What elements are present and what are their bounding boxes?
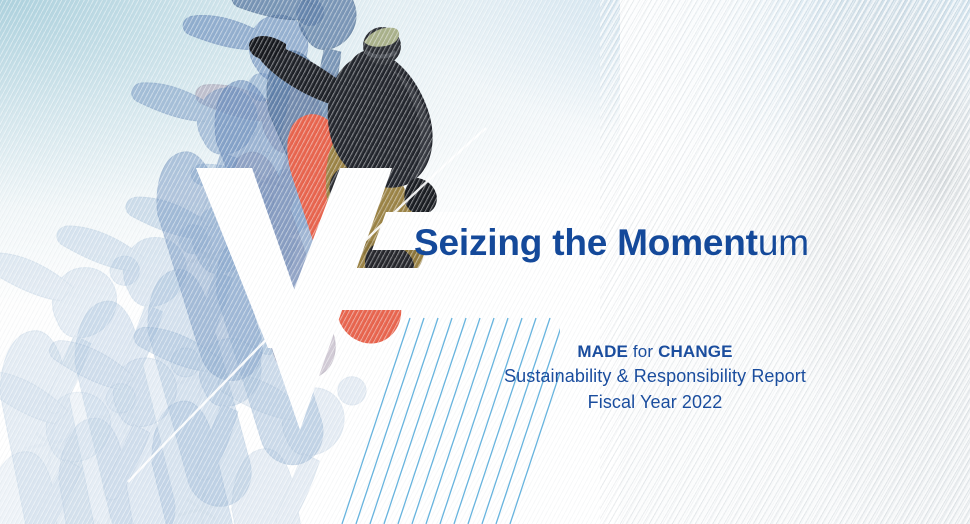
subtitle-block: MADE for CHANGE Sustainability & Respons… [455,340,855,415]
report-cover: Seizing the Momentum MADE for CHANGE Sus… [0,0,970,524]
subtitle-report-line: Sustainability & Responsibility Report [455,364,855,390]
headline-bold: Seizing the Moment [414,222,758,263]
page-title: Seizing the Momentum [414,222,809,264]
kicker-change: CHANGE [658,342,733,361]
kicker-for: for [628,342,658,361]
headline-light: um [758,222,809,263]
kicker-made: MADE [577,342,628,361]
subtitle-kicker: MADE for CHANGE [455,340,855,364]
subtitle-fiscal-year: Fiscal Year 2022 [455,390,855,416]
